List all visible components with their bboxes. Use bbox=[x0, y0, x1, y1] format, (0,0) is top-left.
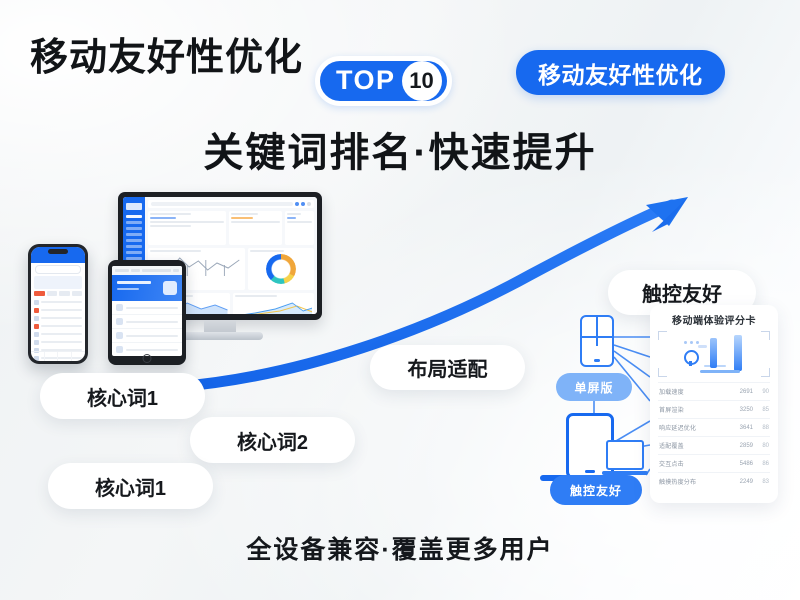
dashboard-mini-card bbox=[285, 211, 314, 245]
phone-tag-row bbox=[31, 291, 85, 296]
phone-notch bbox=[48, 249, 68, 254]
area-chart bbox=[235, 299, 313, 314]
monitor-stand-foot bbox=[177, 332, 263, 340]
tablet-home-button bbox=[143, 354, 152, 363]
sidebar-item bbox=[126, 239, 142, 242]
sidebar-item bbox=[126, 227, 142, 230]
list-item bbox=[112, 301, 182, 315]
keyword-pill-2[interactable]: 核心词2 bbox=[190, 417, 355, 463]
table-row: 加载速度 2691 90 bbox=[658, 382, 770, 400]
table-row: 响应延迟优化 3641 88 bbox=[658, 418, 770, 436]
metric-score: 85 bbox=[757, 407, 769, 413]
sidebar-item bbox=[126, 215, 142, 218]
list-item bbox=[31, 330, 85, 338]
metric-name: 适配覆盖 bbox=[659, 441, 727, 450]
metric-score: 80 bbox=[757, 443, 769, 449]
dashboard-area-chart-card bbox=[233, 293, 315, 314]
chart-tick-icon bbox=[698, 345, 707, 348]
frame-corner-icon bbox=[658, 368, 667, 377]
device-mockups bbox=[28, 192, 328, 392]
list-item bbox=[112, 315, 182, 329]
metric-value: 2859 bbox=[731, 443, 753, 449]
metric-value: 2249 bbox=[731, 479, 753, 485]
dashboard-topbar bbox=[148, 200, 314, 208]
table-row: 触摸热度分布 2249 83 bbox=[658, 472, 770, 490]
sidebar-item bbox=[126, 245, 142, 248]
metric-score: 83 bbox=[757, 479, 769, 485]
frame-corner-icon bbox=[658, 331, 667, 340]
table-row: 交互点击 5486 86 bbox=[658, 454, 770, 472]
metric-name: 加载速度 bbox=[659, 387, 727, 396]
page-subtitle: 关键词排名·快速提升 bbox=[0, 120, 800, 178]
tablet-banner bbox=[112, 275, 182, 301]
metric-score: 86 bbox=[757, 461, 769, 467]
status-dot-icon bbox=[307, 202, 311, 206]
frame-corner-icon bbox=[761, 331, 770, 340]
donut-chart bbox=[266, 254, 296, 284]
metric-value: 5486 bbox=[731, 461, 753, 467]
top-rank-badge: TOP 10 bbox=[315, 56, 452, 106]
score-card-chart bbox=[658, 331, 770, 377]
metric-name: 触摸热度分布 bbox=[659, 477, 727, 486]
location-pin-icon bbox=[684, 350, 699, 365]
metric-name: 响应延迟优化 bbox=[659, 423, 727, 432]
table-row: 适配覆盖 2859 80 bbox=[658, 436, 770, 454]
tablet-bezel bbox=[108, 260, 186, 365]
score-card-panel: 移动端体验评分卡 加载速度 2691 90 首屏渲染 bbox=[650, 305, 778, 503]
sidebar-item bbox=[126, 221, 142, 224]
top-badge-label: TOP bbox=[336, 67, 396, 96]
tablet-mockup bbox=[108, 260, 186, 365]
dashboard-stat-card bbox=[229, 211, 282, 245]
page-title: 移动友好性优化 bbox=[30, 26, 303, 81]
diagram-phone-icon-top bbox=[580, 315, 614, 367]
metric-value: 3250 bbox=[731, 407, 753, 413]
phone-mockup bbox=[28, 244, 88, 364]
tablet-header bbox=[112, 266, 182, 275]
metric-value: 3641 bbox=[731, 425, 753, 431]
list-item bbox=[31, 322, 85, 330]
phone-screen bbox=[31, 247, 85, 361]
poster-canvas: 移动友好性优化 TOP 10 移动友好性优化 关键词排名·快速提升 bbox=[0, 0, 800, 600]
top-badge-number: 10 bbox=[402, 61, 442, 101]
sidebar-item bbox=[126, 233, 142, 236]
chart-bar bbox=[710, 338, 717, 368]
chart-dots-icon bbox=[684, 341, 699, 344]
dashboard-search bbox=[151, 202, 293, 206]
metric-value: 2691 bbox=[731, 389, 753, 395]
dashboard-logo bbox=[126, 203, 142, 210]
list-item bbox=[112, 329, 182, 343]
score-card-title: 移动端体验评分卡 bbox=[658, 312, 770, 327]
frame-corner-icon bbox=[761, 368, 770, 377]
list-item bbox=[31, 314, 85, 322]
diagram-pill-single-screen: 单屏版 bbox=[556, 373, 632, 401]
sidebar-item bbox=[126, 251, 142, 254]
dashboard-filter-card bbox=[148, 211, 226, 245]
callout-layout-adapt[interactable]: 布局适配 bbox=[370, 345, 525, 390]
dashboard-row bbox=[148, 211, 314, 245]
metric-score: 88 bbox=[757, 425, 769, 431]
phone-tab-bar bbox=[31, 351, 85, 361]
phone-promo-card bbox=[34, 276, 82, 289]
dashboard-donut-card bbox=[248, 248, 314, 290]
header-tag-pill: 移动友好性优化 bbox=[516, 50, 725, 95]
status-dot-icon bbox=[295, 202, 299, 206]
diagram-pill-touch-friendly: 触控友好 bbox=[550, 475, 642, 505]
list-item bbox=[31, 306, 85, 314]
keyword-pill-1[interactable]: 核心词1 bbox=[40, 373, 205, 419]
chart-bar bbox=[734, 335, 742, 371]
chart-baseline bbox=[700, 370, 740, 373]
phone-search-bar bbox=[35, 265, 81, 274]
metric-name: 交互点击 bbox=[659, 459, 727, 468]
list-item bbox=[31, 338, 85, 346]
phone-bezel bbox=[28, 244, 88, 364]
list-item bbox=[31, 298, 85, 306]
footer-tagline: 全设备兼容·覆盖更多用户 bbox=[0, 530, 800, 566]
device-connection-diagram: 单屏版 触控友好 移动端体验评分卡 bbox=[546, 305, 784, 510]
keyword-pill-3[interactable]: 核心词1 bbox=[48, 463, 213, 509]
tablet-screen bbox=[112, 266, 182, 356]
status-dot-icon bbox=[301, 202, 305, 206]
metric-score: 90 bbox=[757, 389, 769, 395]
table-row: 首屏渲染 3250 85 bbox=[658, 400, 770, 418]
metric-name: 首屏渲染 bbox=[659, 405, 727, 414]
